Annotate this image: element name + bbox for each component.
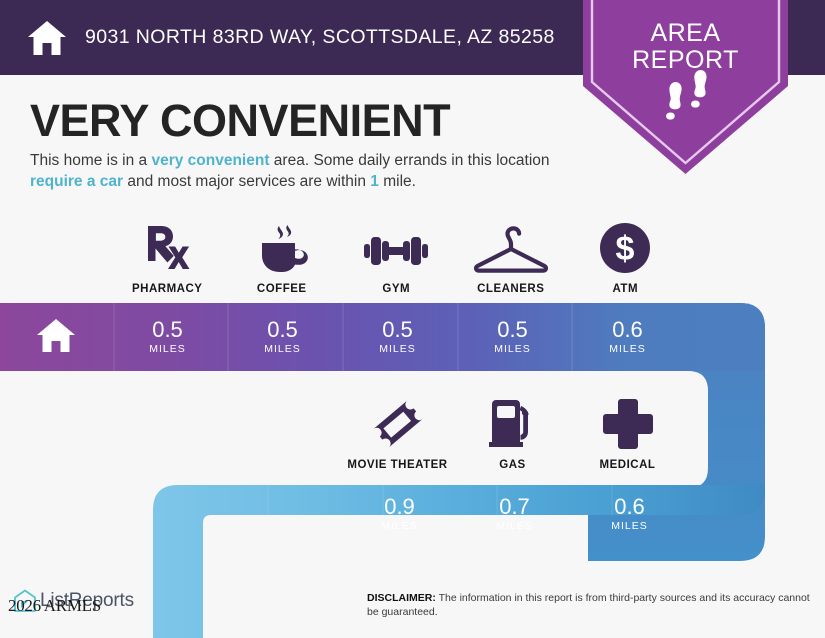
distance-gym: 0.5 MILES (340, 318, 455, 355)
distance-value: 0.5 (110, 318, 225, 342)
amenity-icon-row-1: PHARMACY COFFEE (110, 222, 714, 295)
summary-text-1: This home is in a (30, 152, 151, 169)
distance-unit: MILES (455, 343, 570, 355)
distance-unit: MILES (110, 343, 225, 355)
distance-unit: MILES (342, 520, 457, 532)
distance-unit: MILES (572, 520, 687, 532)
distance-value: 0.6 (572, 495, 687, 519)
amenity-pharmacy: PHARMACY (110, 222, 225, 295)
amenity-label: CLEANERS (477, 283, 544, 295)
amenity-gym: GYM (339, 222, 454, 295)
badge-line-1: AREA (583, 20, 788, 47)
summary-description: This home is in a very convenient area. … (30, 150, 600, 192)
summary-text-3: and most major services are within (123, 173, 370, 190)
distance-value: 0.7 (457, 495, 572, 519)
page-title: VERY CONVENIENT (30, 96, 450, 146)
summary-text-4: mile. (379, 173, 416, 190)
disclaimer-label: DISCLAIMER: (367, 592, 436, 604)
area-report-badge: AREA REPORT (583, 0, 788, 176)
distance-unit: MILES (340, 343, 455, 355)
amenity-label: GYM (382, 283, 410, 295)
mls-watermark: 2026 ARMLS (8, 596, 101, 616)
area-report-page: 9031 NORTH 83RD WAY, SCOTTSDALE, AZ 8525… (0, 0, 825, 638)
distance-unit: MILES (225, 343, 340, 355)
distance-value: 0.5 (225, 318, 340, 342)
distance-atm: 0.6 MILES (570, 318, 685, 355)
gas-pump-icon (488, 398, 538, 450)
distance-gas: 0.7 MILES (457, 495, 572, 532)
distance-value: 0.5 (340, 318, 455, 342)
distance-value: 0.5 (455, 318, 570, 342)
amenity-medical: MEDICAL (570, 398, 685, 471)
home-icon (27, 19, 67, 57)
amenity-coffee: COFFEE (225, 222, 340, 295)
movie-ticket-icon (372, 398, 424, 450)
amenity-label: MEDICAL (600, 459, 656, 471)
summary-text-2: area. Some daily errands in this locatio… (270, 152, 550, 169)
amenity-label: COFFEE (257, 283, 307, 295)
disclaimer: DISCLAIMER: The information in this repo… (367, 592, 817, 619)
amenity-label: GAS (499, 459, 525, 471)
summary-highlight-1: very convenient (151, 152, 269, 169)
distance-movie-theater: 0.9 MILES (342, 495, 457, 532)
amenity-cleaners: CLEANERS (454, 222, 569, 295)
amenity-label: PHARMACY (132, 283, 202, 295)
amenity-label: MOVIE THEATER (347, 459, 447, 471)
svg-text:$: $ (616, 230, 635, 268)
home-marker-icon (36, 318, 76, 359)
distance-value: 0.9 (342, 495, 457, 519)
amenity-gas: GAS (455, 398, 570, 471)
prescription-rx-icon (144, 222, 190, 274)
badge-line-2: REPORT (583, 47, 788, 74)
clothes-hanger-icon (472, 222, 550, 274)
property-address: 9031 NORTH 83RD WAY, SCOTTSDALE, AZ 8525… (85, 26, 555, 49)
area-report-badge-label: AREA REPORT (583, 20, 788, 74)
summary-highlight-2: require a car (30, 173, 123, 190)
distance-cleaners: 0.5 MILES (455, 318, 570, 355)
coffee-cup-icon (254, 222, 310, 274)
medical-cross-icon (602, 398, 654, 450)
distance-medical: 0.6 MILES (572, 495, 687, 532)
amenity-icon-row-2: MOVIE THEATER GAS (340, 398, 686, 471)
distance-pharmacy: 0.5 MILES (110, 318, 225, 355)
amenity-atm: $ ATM (568, 222, 683, 295)
dumbbell-icon (364, 222, 428, 274)
distance-unit: MILES (570, 343, 685, 355)
summary-highlight-3: 1 (370, 173, 379, 190)
distance-unit: MILES (457, 520, 572, 532)
distance-value: 0.6 (570, 318, 685, 342)
distance-coffee: 0.5 MILES (225, 318, 340, 355)
dollar-circle-icon: $ (599, 222, 651, 274)
amenity-label: ATM (612, 283, 638, 295)
amenity-movie-theater: MOVIE THEATER (340, 398, 455, 471)
